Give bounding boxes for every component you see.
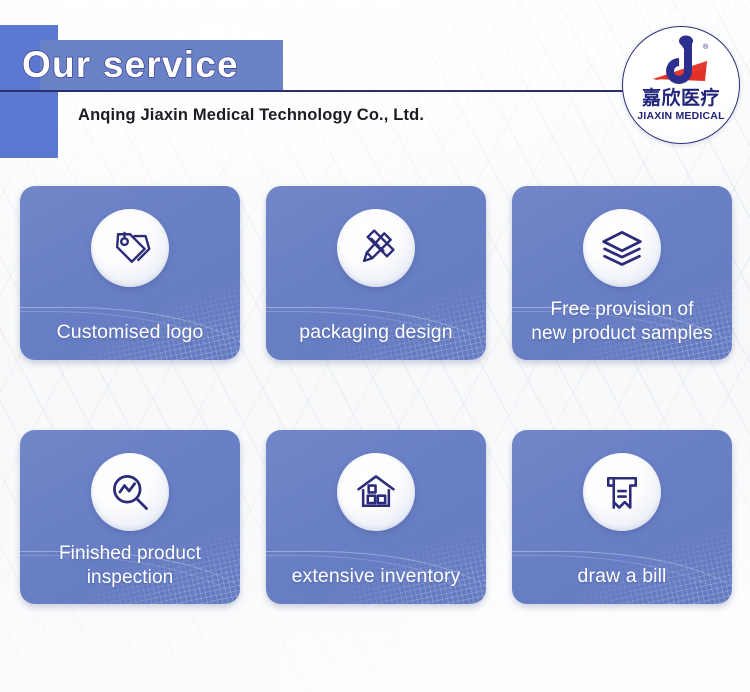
service-cards-grid: Customised logo packaging design (20, 186, 732, 604)
magnifier-chart-inspection-icon (91, 453, 169, 531)
price-tags-icon (91, 209, 169, 287)
page-header: Our service Anqing Jiaxin Medical Techno… (0, 0, 750, 170)
invoice-receipt-icon (583, 453, 661, 531)
company-name: Anqing Jiaxin Medical Technology Co., Lt… (78, 106, 424, 125)
service-card-extensive-inventory[interactable]: extensive inventory (266, 430, 486, 604)
logo-english-name: JIAXIN MEDICAL (622, 110, 740, 122)
service-card-label: packaging design (272, 320, 480, 344)
service-card-label: Customised logo (26, 320, 234, 344)
jiaxin-medical-logo: ® 嘉欣医疗 JIAXIN MEDICAL (622, 26, 740, 144)
service-card-packaging-design[interactable]: packaging design (266, 186, 486, 360)
layers-stack-icon (583, 209, 661, 287)
service-card-draw-a-bill[interactable]: draw a bill (512, 430, 732, 604)
service-card-label: draw a bill (518, 564, 726, 588)
page-title: Our service (22, 41, 239, 89)
service-page: Our service Anqing Jiaxin Medical Techno… (0, 0, 750, 692)
pen-ruler-design-icon (337, 209, 415, 287)
service-card-finished-product-inspection[interactable]: Finished product inspection (20, 430, 240, 604)
service-card-customised-logo[interactable]: Customised logo (20, 186, 240, 360)
warehouse-boxes-icon (337, 453, 415, 531)
header-divider-line (0, 90, 625, 92)
logo-chinese-name: 嘉欣医疗 (623, 87, 739, 109)
registered-trademark-mark: ® (703, 44, 708, 51)
service-card-label: Finished product inspection (26, 542, 234, 590)
service-card-label: extensive inventory (272, 564, 480, 588)
service-card-free-samples[interactable]: Free provision of new product samples (512, 186, 732, 360)
logo-mark-icon (623, 33, 739, 95)
service-card-label: Free provision of new product samples (518, 298, 726, 346)
